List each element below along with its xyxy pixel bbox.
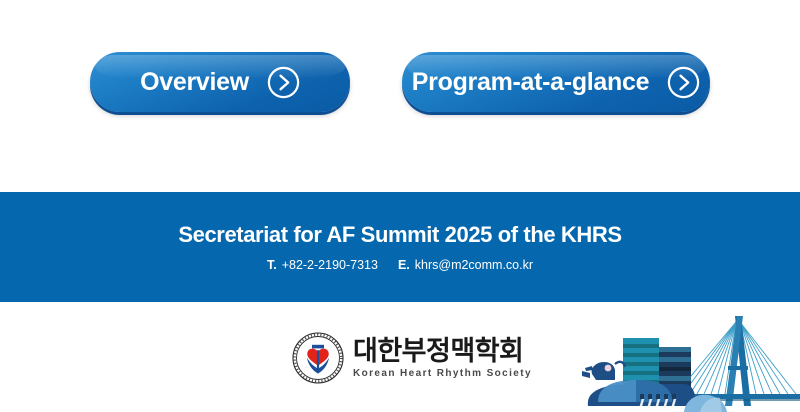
phone-number[interactable]: +82-2-2190-7313 [282,258,378,272]
khrs-logo-text: 대한부정맥학회 Korean Heart Rhythm Society [353,337,532,378]
incheon-city-skyline-illustration [580,310,800,412]
overview-button[interactable]: Overview [90,52,350,112]
phone-label: T. [267,258,277,272]
email-address[interactable]: khrs@m2comm.co.kr [415,258,533,272]
bridge-pylon [725,316,751,406]
secretariat-title: Secretariat for AF Summit 2025 of the KH… [178,222,621,248]
chevron-right-circle-icon [667,66,700,99]
khrs-logo[interactable]: 대한부정맥학회 Korean Heart Rhythm Society [292,330,532,386]
program-at-a-glance-button[interactable]: Program-at-a-glance [402,52,710,112]
chevron-right-circle-icon [267,66,300,99]
secretariat-contact-line: T. +82-2-2190-7313 E. khrs@m2comm.co.kr [267,258,533,272]
khrs-name-english: Korean Heart Rhythm Society [353,368,532,379]
secretariat-banner: Secretariat for AF Summit 2025 of the KH… [0,192,800,302]
program-at-a-glance-button-label: Program-at-a-glance [412,68,649,97]
cta-button-row: Overview Program-at-a-glance [0,52,800,114]
khrs-seal-heart-icon [292,332,344,384]
email-label: E. [398,258,410,272]
overview-button-label: Overview [140,68,249,97]
khrs-name-korean: 대한부정맥학회 [353,337,532,365]
